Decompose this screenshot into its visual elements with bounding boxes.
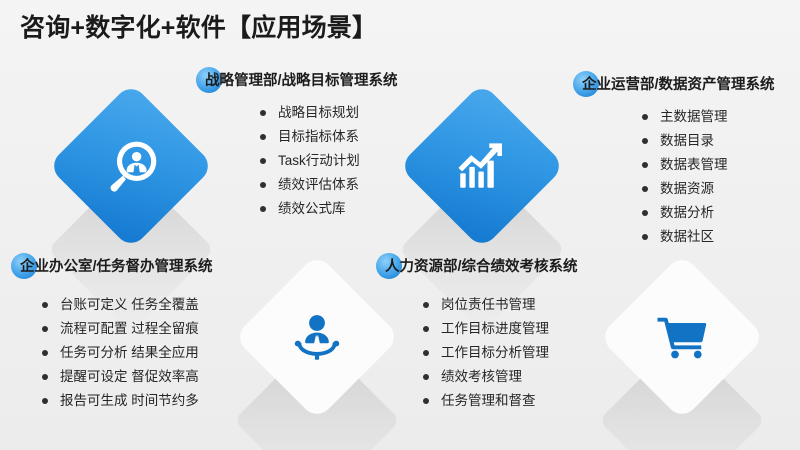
diamond-tile [399, 83, 566, 250]
page-title: 咨询+数字化+软件【应用场景】 [20, 8, 377, 44]
shopping-cart-icon [651, 306, 713, 368]
list-item: 流程可配置 过程全留痕 [40, 317, 213, 341]
list-item: 数据表管理 [640, 153, 775, 177]
section-task-supervision: 企业办公室/任务督办管理系统 台账可定义 任务全覆盖 流程可配置 过程全留痕 任… [18, 255, 213, 413]
list-item: 数据资源 [640, 177, 775, 201]
section-heading-text: 战略管理部/战略目标管理系统 [205, 73, 398, 89]
list-item: 绩效考核管理 [421, 365, 578, 389]
list-item: 工作目标分析管理 [421, 341, 578, 365]
section-strategy: 战略管理部/战略目标管理系统 战略目标规划 目标指标体系 Task行动计划 绩效… [203, 69, 398, 221]
list-item: 数据目录 [640, 129, 775, 153]
list-item: 提醒可设定 督促效率高 [40, 365, 213, 389]
section-item-list: 台账可定义 任务全覆盖 流程可配置 过程全留痕 任务可分析 结果全应用 提醒可设… [18, 293, 213, 413]
section-heading: 战略管理部/战略目标管理系统 [203, 69, 398, 90]
section-item-list: 主数据管理 数据目录 数据表管理 数据资源 数据分析 数据社区 [580, 105, 775, 249]
list-item: 岗位责任书管理 [421, 293, 578, 317]
section-performance: 人力资源部/综合绩效考核系统 岗位责任书管理 工作目标进度管理 工作目标分析管理… [383, 255, 578, 413]
section-heading: 企业办公室/任务督办管理系统 [18, 255, 213, 276]
list-item: 报告可生成 时间节约多 [40, 389, 213, 413]
icon-tile-data-asset [423, 107, 541, 225]
list-item: 主数据管理 [640, 105, 775, 129]
list-item: 目标指标体系 [258, 125, 398, 149]
list-item: Task行动计划 [258, 149, 398, 173]
icon-tile-strategy [72, 107, 190, 225]
section-heading: 企业运营部/数据资产管理系统 [580, 73, 775, 94]
list-item: 绩效公式库 [258, 197, 398, 221]
magnifier-person-icon [100, 135, 162, 197]
section-heading-text: 企业办公室/任务督办管理系统 [20, 259, 213, 275]
section-item-list: 战略目标规划 目标指标体系 Task行动计划 绩效评估体系 绩效公式库 [203, 101, 398, 221]
diamond-tile [234, 254, 401, 421]
list-item: 工作目标进度管理 [421, 317, 578, 341]
growth-chart-icon [451, 135, 513, 197]
section-heading: 人力资源部/综合绩效考核系统 [383, 255, 578, 276]
list-item: 数据社区 [640, 225, 775, 249]
diamond-tile [48, 83, 215, 250]
list-item: 台账可定义 任务全覆盖 [40, 293, 213, 317]
section-heading-text: 人力资源部/综合绩效考核系统 [385, 259, 578, 275]
icon-tile-task-supervision [258, 278, 376, 396]
list-item: 任务管理和督查 [421, 389, 578, 413]
manager-person-icon [286, 306, 348, 368]
diamond-tile [599, 254, 766, 421]
list-item: 绩效评估体系 [258, 173, 398, 197]
slide-canvas: 咨询+数字化+软件【应用场景】 [0, 0, 800, 450]
list-item: 任务可分析 结果全应用 [40, 341, 213, 365]
list-item: 数据分析 [640, 201, 775, 225]
section-item-list: 岗位责任书管理 工作目标进度管理 工作目标分析管理 绩效考核管理 任务管理和督查 [383, 293, 578, 413]
section-heading-text: 企业运营部/数据资产管理系统 [582, 77, 775, 93]
icon-tile-performance [623, 278, 741, 396]
list-item: 战略目标规划 [258, 101, 398, 125]
section-data-asset: 企业运营部/数据资产管理系统 主数据管理 数据目录 数据表管理 数据资源 数据分… [580, 73, 775, 249]
